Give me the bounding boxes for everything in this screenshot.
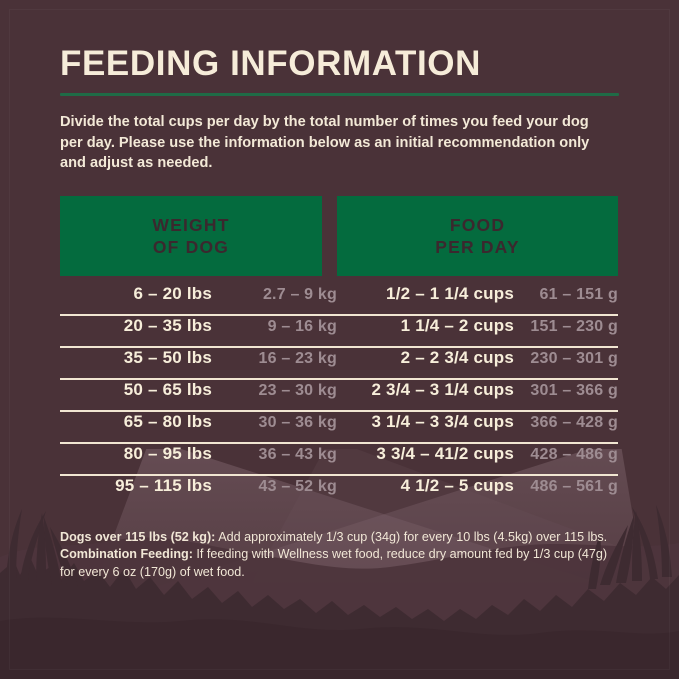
- feeding-table: WEIGHT OF DOG FOOD PER DAY 6 – 20 lbs 2.…: [60, 196, 618, 508]
- cell-food-cups: 3 3/4 – 41/2 cups: [337, 444, 514, 464]
- table-row: 65 – 80 lbs 30 – 36 kg 3 1/4 – 3 3/4 cup…: [60, 412, 618, 444]
- cell-food-grams: 61 – 151 g: [514, 286, 618, 304]
- column-header-weight-line2: OF DOG: [66, 236, 316, 258]
- cell-weight-lbs: 20 – 35 lbs: [60, 316, 212, 336]
- feeding-information-panel: FEEDING INFORMATION Divide the total cup…: [0, 0, 679, 679]
- cell-weight-kg: 23 – 30 kg: [212, 382, 337, 400]
- cell-food-cups: 2 – 2 3/4 cups: [337, 348, 514, 368]
- column-header-food-line1: FOOD: [450, 215, 505, 235]
- content-area: FEEDING INFORMATION Divide the total cup…: [0, 0, 679, 581]
- cell-food-cups: 2 3/4 – 3 1/4 cups: [337, 380, 514, 400]
- cell-weight-kg: 16 – 23 kg: [212, 350, 337, 368]
- cell-weight-kg: 36 – 43 kg: [212, 446, 337, 464]
- cell-weight-kg: 43 – 52 kg: [212, 478, 337, 496]
- cell-weight-kg: 30 – 36 kg: [212, 414, 337, 432]
- table-row: 50 – 65 lbs 23 – 30 kg 2 3/4 – 3 1/4 cup…: [60, 380, 618, 412]
- table-header-row: WEIGHT OF DOG FOOD PER DAY: [60, 196, 618, 276]
- footnote-label-dogs-over-115: Dogs over 115 lbs (52 kg):: [60, 530, 215, 544]
- column-header-weight-line1: WEIGHT: [152, 215, 229, 235]
- intro-paragraph: Divide the total cups per day by the tot…: [60, 96, 590, 174]
- table-row: 35 – 50 lbs 16 – 23 kg 2 – 2 3/4 cups 23…: [60, 348, 618, 380]
- page-title: FEEDING INFORMATION: [60, 0, 619, 84]
- cell-weight-lbs: 50 – 65 lbs: [60, 380, 212, 400]
- cell-food-grams: 428 – 486 g: [514, 446, 618, 464]
- cell-food-grams: 366 – 428 g: [514, 414, 618, 432]
- cell-weight-lbs: 6 – 20 lbs: [60, 284, 212, 304]
- cell-weight-kg: 2.7 – 9 kg: [212, 286, 337, 304]
- column-header-food-per-day: FOOD PER DAY: [337, 196, 618, 276]
- table-row: 6 – 20 lbs 2.7 – 9 kg 1/2 – 1 1/4 cups 6…: [60, 284, 618, 316]
- column-header-weight-of-dog: WEIGHT OF DOG: [60, 196, 322, 276]
- cell-food-grams: 301 – 366 g: [514, 382, 618, 400]
- footnote-text-1: Add approximately 1/3 cup (34g) for ever…: [215, 530, 607, 544]
- table-row: 20 – 35 lbs 9 – 16 kg 1 1/4 – 2 cups 151…: [60, 316, 618, 348]
- cell-weight-lbs: 95 – 115 lbs: [60, 476, 212, 496]
- cell-food-cups: 1 1/4 – 2 cups: [337, 316, 514, 336]
- footnote: Dogs over 115 lbs (52 kg): Add approxima…: [60, 508, 619, 582]
- cell-weight-lbs: 65 – 80 lbs: [60, 412, 212, 432]
- cell-food-cups: 1/2 – 1 1/4 cups: [337, 284, 514, 304]
- table-body: 6 – 20 lbs 2.7 – 9 kg 1/2 – 1 1/4 cups 6…: [60, 284, 618, 508]
- column-header-food-line2: PER DAY: [343, 236, 612, 258]
- footnote-label-combination-feeding: Combination Feeding:: [60, 547, 193, 561]
- cell-food-cups: 4 1/2 – 5 cups: [337, 476, 514, 496]
- cell-food-grams: 230 – 301 g: [514, 350, 618, 368]
- cell-weight-lbs: 80 – 95 lbs: [60, 444, 212, 464]
- cell-weight-kg: 9 – 16 kg: [212, 318, 337, 336]
- cell-weight-lbs: 35 – 50 lbs: [60, 348, 212, 368]
- cell-food-grams: 151 – 230 g: [514, 318, 618, 336]
- cell-food-cups: 3 1/4 – 3 3/4 cups: [337, 412, 514, 432]
- table-row: 80 – 95 lbs 36 – 43 kg 3 3/4 – 41/2 cups…: [60, 444, 618, 476]
- cell-food-grams: 486 – 561 g: [514, 478, 618, 496]
- table-row: 95 – 115 lbs 43 – 52 kg 4 1/2 – 5 cups 4…: [60, 476, 618, 508]
